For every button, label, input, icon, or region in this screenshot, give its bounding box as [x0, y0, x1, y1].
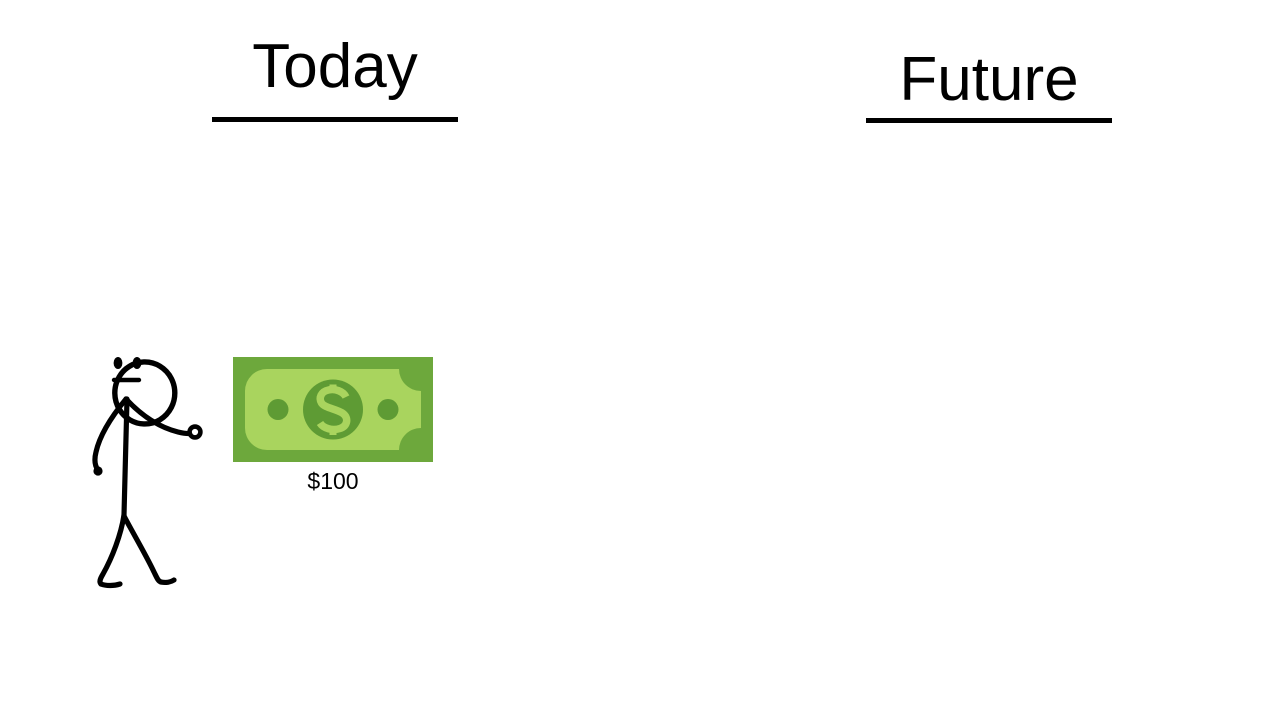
figure-left-eye — [114, 357, 123, 369]
figure-left-hand — [93, 466, 102, 475]
heading-future: Future — [839, 47, 1139, 112]
figure-left-foot — [101, 584, 120, 586]
heading-today-underline — [212, 117, 458, 122]
slide-canvas: Today — [0, 0, 1280, 720]
dollar-bill-icon — [233, 357, 433, 462]
figure-right-hand — [190, 427, 201, 438]
bill-right-dot — [378, 399, 399, 420]
figure-torso — [124, 399, 127, 515]
figure-right-arm — [126, 399, 193, 434]
stick-figure — [78, 330, 213, 590]
bill-amount-caption: $100 — [233, 468, 433, 496]
figure-right-foot — [161, 580, 174, 582]
bill-left-dot — [268, 399, 289, 420]
figure-right-eye — [133, 357, 142, 369]
heading-today: Today — [185, 34, 485, 99]
figure-right-leg — [124, 516, 161, 582]
figure-left-leg — [100, 515, 124, 584]
heading-future-underline — [866, 118, 1112, 123]
